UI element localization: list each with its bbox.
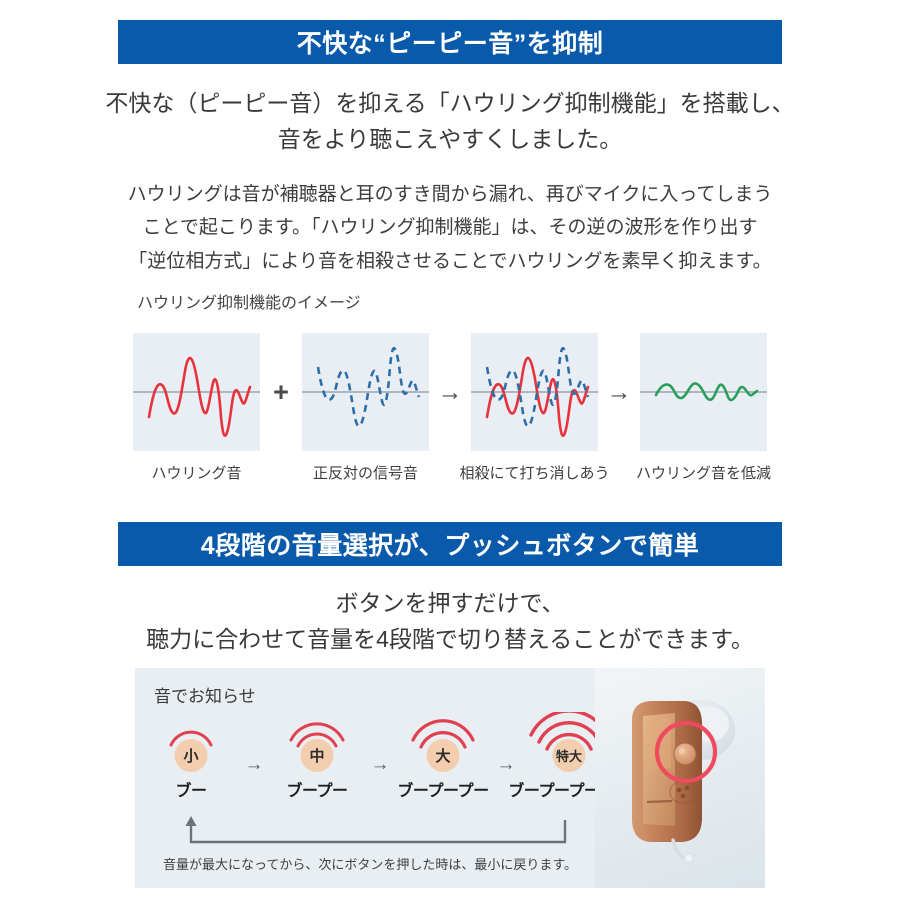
panel-title: 音でお知らせ <box>154 682 256 707</box>
volume-badge: 大 <box>427 739 460 772</box>
volume-badge: 中 <box>301 739 334 772</box>
waveform-svg-blue-dashed <box>302 333 429 451</box>
section2-lead-paragraph: ボタンを押すだけで、 聴力に合わせて音量を4段階で切り替えることができます。 <box>90 586 810 657</box>
waveform-panel-inverse <box>302 333 429 451</box>
panel-note: 音量が最大になってから、次にボタンを押した時は、最小に戻ります。 <box>135 854 605 873</box>
step-arrow: → <box>237 712 271 776</box>
volume-step-medium: 中 ブープー <box>271 712 363 801</box>
section-header-volume-steps: 4段階の音量選択が、プッシュボタンで簡単 <box>118 522 782 566</box>
sound-wave-icon-2arcs: 小 <box>148 712 234 772</box>
lead-line: 不快な（ピーピー音）を抑える「ハウリング抑制機能」を搭載し、 <box>90 86 810 122</box>
volume-steps-panel: 音でお知らせ 小 ブー → <box>135 668 765 888</box>
waveform-svg-red <box>133 333 260 451</box>
volume-step-small: 小 ブー <box>145 712 237 801</box>
waveform-label: 相殺にて打ち消しあう <box>452 462 617 484</box>
volume-badge: 小 <box>175 739 208 772</box>
volume-sound-text: ブー <box>175 777 206 801</box>
waveform-panel-howling <box>133 333 260 451</box>
waveform-svg-overlay <box>471 333 598 451</box>
body-line: 「逆位相方式」により音を相殺させることでハウリングを素早く抑えます。 <box>80 245 820 278</box>
waveform-label: ハウリング音 <box>114 462 279 484</box>
hearing-aid-device-photo <box>595 668 765 888</box>
waveform-diagram: + → → <box>133 333 767 451</box>
step-arrow: → <box>363 712 397 776</box>
waveform-label: ハウリング音を低減 <box>621 462 786 484</box>
volume-sound-text: ブープープー <box>397 777 488 801</box>
volume-step-large: 大 ブープープー <box>397 712 489 801</box>
body-line: ハウリングは音が補聴器と耳のすき間から漏れ、再びマイクに入ってしまう <box>80 178 820 211</box>
volume-sound-text: ブープー <box>286 777 347 801</box>
lead-line: ボタンを押すだけで、 <box>90 586 810 622</box>
section1-body-paragraph: ハウリングは音が補聴器と耳のすき間から漏れ、再びマイクに入ってしまう ことで起こ… <box>80 178 820 278</box>
loop-back-arrow-icon <box>145 816 605 850</box>
sound-wave-icon-3arcs-wide: 大 <box>400 712 486 772</box>
section1-lead-paragraph: 不快な（ピーピー音）を抑える「ハウリング抑制機能」を搭載し、 音をより聴こえやす… <box>90 86 810 157</box>
lead-line: 聴力に合わせて音量を4段階で切り替えることができます。 <box>90 622 810 658</box>
sound-wave-icon-3arcs: 中 <box>274 712 360 772</box>
waveform-panel-reduced <box>640 333 767 451</box>
lead-line: 音をより聴こえやすくしました。 <box>90 122 810 158</box>
waveform-panel-cancellation <box>471 333 598 451</box>
waveform-label-row: ハウリング音 正反対の信号音 相殺にて打ち消しあう ハウリング音を低減 <box>133 462 767 484</box>
volume-step-list: 小 ブー → 中 ブープー → <box>145 712 605 802</box>
waveform-label: 正反対の信号音 <box>283 462 448 484</box>
volume-badge: 特大 <box>553 739 586 772</box>
figure-caption: ハウリング抑制機能のイメージ <box>137 289 361 313</box>
operator-plus: + <box>262 379 300 406</box>
waveform-svg-green <box>640 333 767 451</box>
step-arrow: → <box>489 712 523 776</box>
operator-arrow-1: → <box>431 380 469 405</box>
body-line: ことで起こります。「ハウリング抑制機能」は、その逆の波形を作り出す <box>80 211 820 244</box>
operator-arrow-2: → <box>600 380 638 405</box>
section-header-howling-suppression: 不快な“ピーピー音”を抑制 <box>118 20 782 64</box>
